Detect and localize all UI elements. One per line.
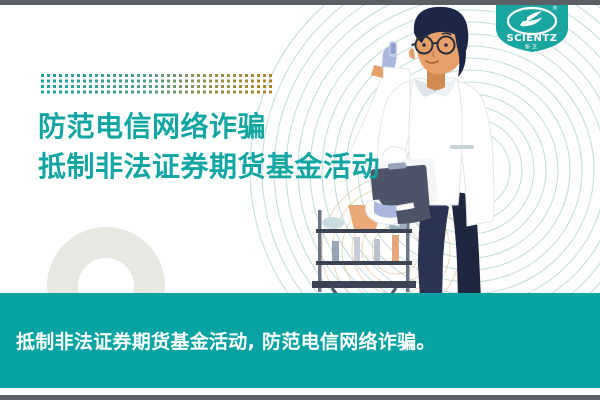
headline-line-1: 防范电信网络诈骗	[38, 107, 380, 147]
dot-grid-decoration	[41, 74, 275, 96]
bottom-chrome-bar	[0, 395, 600, 400]
scientz-logo[interactable]: ® SCIENTZ 新芝	[496, 0, 568, 52]
headline-line-2: 抵制非法证券期货基金活动	[38, 147, 380, 187]
poster-canvas: 防范电信网络诈骗 抵制非法证券期货基金活动 ® SCIENTZ 新芝 抵制非法证…	[0, 0, 600, 400]
registered-mark: ®	[552, 5, 558, 12]
logo-brand-text: SCIENTZ	[506, 33, 557, 44]
headline-block: 防范电信网络诈骗 抵制非法证券期货基金活动	[38, 107, 380, 187]
head	[409, 7, 468, 77]
logo-subbrand-text: 新芝	[525, 44, 539, 51]
bottom-banner: 抵制非法证券期货基金活动, 防范电信网络诈骗。	[0, 293, 600, 388]
banner-slogan: 抵制非法证券期货基金活动, 防范电信网络诈骗。	[16, 327, 436, 354]
top-chrome-bar	[0, 0, 600, 5]
